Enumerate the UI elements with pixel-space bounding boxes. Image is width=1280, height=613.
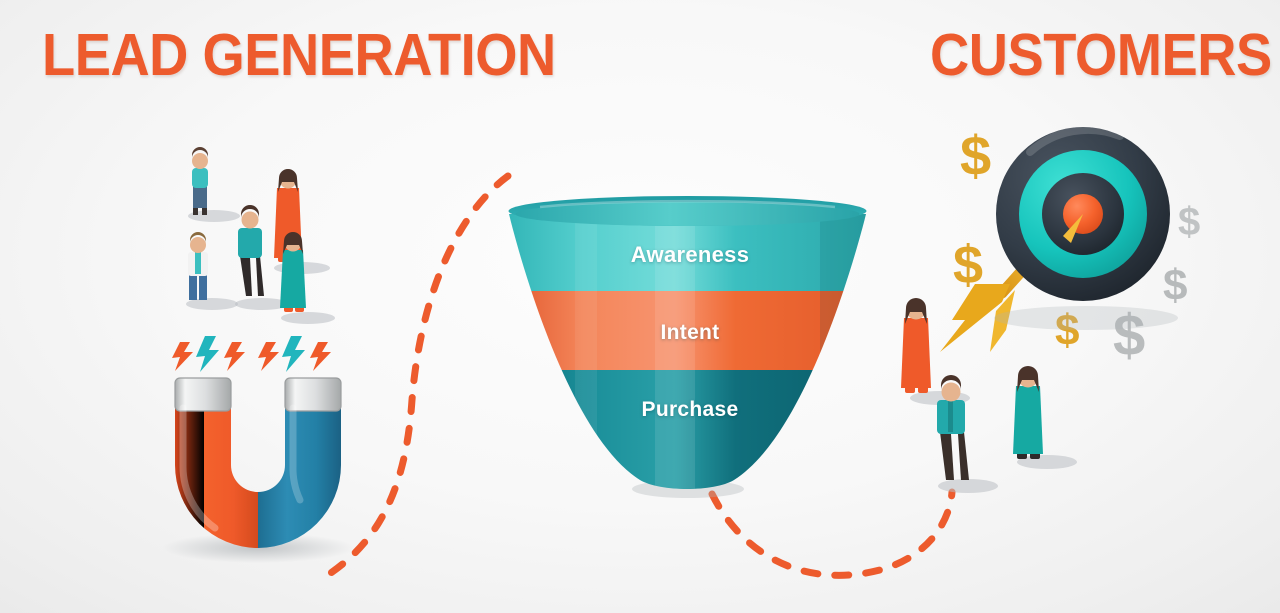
dashed-path-left [318, 176, 508, 581]
lightning-bolt-orange-right [224, 342, 245, 371]
person-dress [1013, 386, 1043, 454]
dartboard-target[interactable] [996, 127, 1170, 301]
person-dress [901, 318, 931, 388]
lightning-bolt-teal-right [282, 336, 305, 372]
customer-man-teal[interactable] [937, 375, 998, 493]
dollar-sign-gold: $ [1055, 306, 1079, 355]
customer-woman-teal[interactable] [1013, 366, 1077, 469]
person-dress [280, 250, 306, 308]
dollar-sign-silver: $ [1178, 200, 1200, 244]
person-tie [195, 252, 201, 274]
dashed-path-right [712, 492, 952, 575]
dollar-sign-silver: $ [1163, 261, 1187, 310]
magnet-right-pole [258, 400, 341, 548]
person-man-blue-lower[interactable] [186, 232, 238, 310]
person-shadow [938, 479, 998, 493]
infographic-canvas: Awareness Intent Purchase [0, 0, 1280, 613]
person-skirt [193, 186, 207, 208]
funnel-labels: Awareness Intent Purchase [500, 190, 880, 500]
horseshoe-magnet[interactable] [175, 378, 341, 548]
person-head [942, 383, 961, 402]
person-shirt [238, 228, 262, 258]
person-woman-teal-lower[interactable] [280, 232, 335, 324]
funnel-label-intent: Intent [500, 321, 880, 345]
lightning-bolt-orange-left [172, 342, 193, 371]
spark-cluster-left [172, 336, 245, 372]
dollar-sign-gold: $ [960, 124, 991, 187]
person-pants [189, 272, 197, 300]
person-head [192, 153, 208, 169]
arrow-fletching-2 [990, 290, 1015, 352]
lightning-bolt-orange-left [258, 342, 279, 371]
person-top [192, 168, 208, 188]
person-woman-teal-top[interactable] [188, 147, 240, 222]
lightning-bolt-teal-left [196, 336, 219, 372]
person-head [242, 212, 259, 229]
spark-cluster-right [258, 336, 331, 372]
lightning-bolt-orange-far-right [310, 342, 331, 371]
person-shadow [281, 312, 335, 324]
target-bullseye [1063, 194, 1103, 234]
page-title-lead-generation: LEAD GENERATION [42, 26, 556, 85]
funnel-label-purchase: Purchase [500, 398, 880, 422]
dollar-sign-gold: $ [953, 235, 983, 295]
person-head [190, 237, 206, 253]
target-shadow [994, 306, 1178, 330]
arrow-fletching [940, 284, 1010, 352]
page-title-customers: CUSTOMERS [930, 26, 1272, 85]
person-placket [948, 400, 953, 432]
funnel-label-awareness: Awareness [500, 242, 880, 268]
person-legs [240, 256, 252, 296]
dollar-sign-silver: $ [1113, 303, 1145, 368]
person-legs [940, 432, 954, 480]
